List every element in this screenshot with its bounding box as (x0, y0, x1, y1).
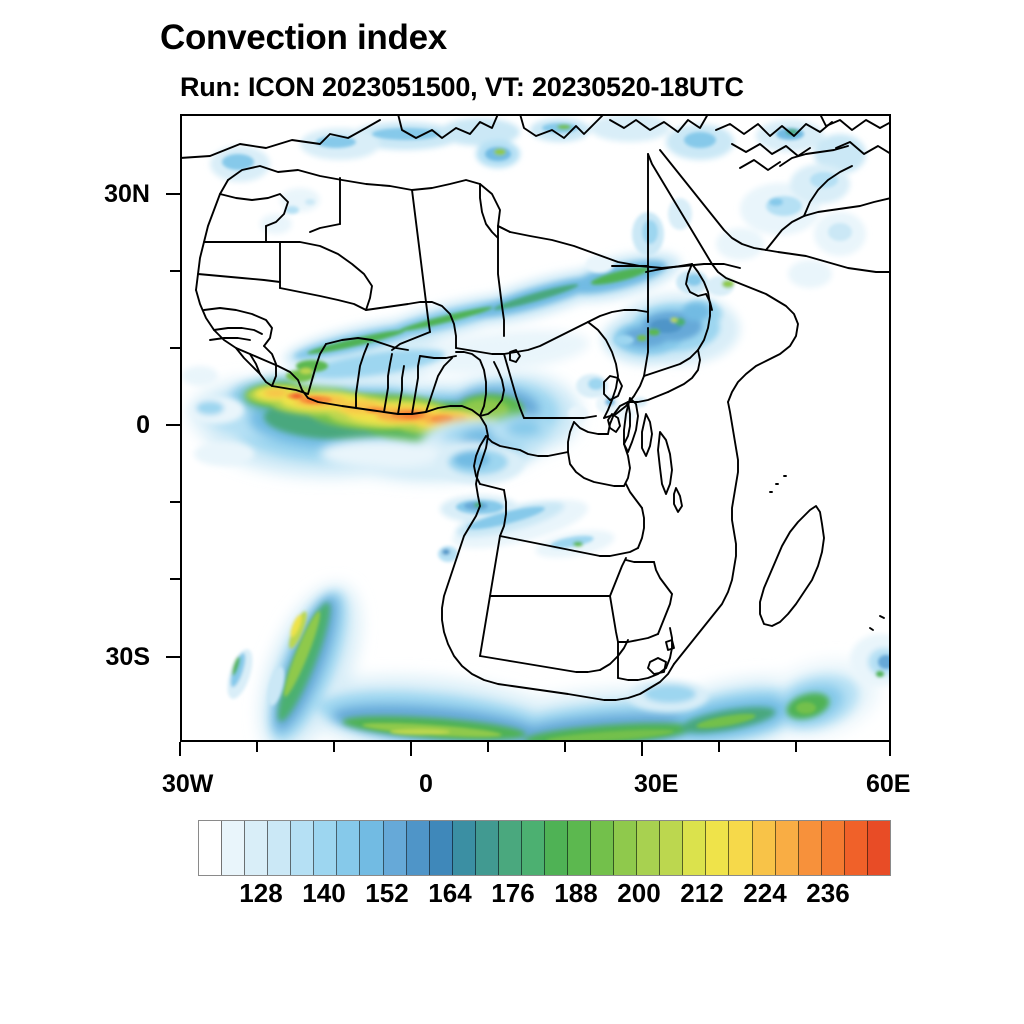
colorbar-cell-22 (706, 821, 729, 875)
colorbar-label-236: 236 (806, 878, 849, 909)
x-tick-label-0: 0 (419, 770, 433, 799)
colorbar-cell-15 (545, 821, 568, 875)
convection-field (182, 114, 891, 742)
colorbar-cell-3 (268, 821, 291, 875)
feature-congo-basin (436, 444, 616, 563)
colorbar-label-128: 128 (239, 878, 282, 909)
colorbar-label-152: 152 (365, 878, 408, 909)
colorbar-cell-4 (291, 821, 314, 875)
colorbar-cell-13 (499, 821, 522, 875)
colorbar-cell-23 (729, 821, 752, 875)
colorbar-cell-14 (522, 821, 545, 875)
colorbar-cell-17 (591, 821, 614, 875)
colorbar-label-140: 140 (302, 878, 345, 909)
x-tick-label-60E: 60E (866, 770, 910, 799)
colorbar-cell-9 (407, 821, 430, 875)
convection-map (180, 114, 891, 742)
run-valid-time-subtitle: Run: ICON 2023051500, VT: 20230520-18UTC (180, 72, 744, 103)
colorbar-cell-6 (337, 821, 360, 875)
colorbar-cell-11 (453, 821, 476, 875)
y-tick-label-30S: 30S (40, 643, 150, 672)
colorbar-cell-24 (753, 821, 776, 875)
page-title: Convection index (160, 18, 447, 58)
colorbar-cell-7 (360, 821, 383, 875)
colorbar-label-200: 200 (617, 878, 660, 909)
colorbar-cell-26 (799, 821, 822, 875)
y-tick-label-30N: 30N (40, 180, 150, 209)
colorbar-cell-20 (660, 821, 683, 875)
x-tick-label-30E: 30E (634, 770, 678, 799)
convection-index-figure: Convection index Run: ICON 2023051500, V… (0, 0, 1024, 1024)
colorbar-cell-29 (868, 821, 890, 875)
colorbar-cells (198, 820, 891, 876)
colorbar-label-224: 224 (743, 878, 786, 909)
colorbar-cell-10 (430, 821, 453, 875)
colorbar-cell-28 (845, 821, 868, 875)
y-tick-label-0: 0 (40, 411, 150, 440)
colorbar-cell-12 (476, 821, 499, 875)
colorbar-label-188: 188 (554, 878, 597, 909)
feature-arabian-peninsula (716, 164, 866, 288)
colorbar-label-212: 212 (680, 878, 723, 909)
colorbar-tick-labels: 128140152164176188200212224236 (198, 878, 891, 918)
colorbar: 128140152164176188200212224236 (198, 820, 891, 876)
colorbar-cell-19 (637, 821, 660, 875)
colorbar-cell-18 (614, 821, 637, 875)
x-tick-label-30W: 30W (162, 770, 213, 799)
colorbar-cell-21 (683, 821, 706, 875)
colorbar-label-164: 164 (428, 878, 471, 909)
colorbar-label-176: 176 (491, 878, 534, 909)
colorbar-cell-8 (384, 821, 407, 875)
colorbar-cell-27 (822, 821, 845, 875)
colorbar-cell-1 (222, 821, 245, 875)
colorbar-cell-16 (568, 821, 591, 875)
colorbar-cell-5 (314, 821, 337, 875)
colorbar-cell-0 (199, 821, 222, 875)
map-panel (180, 114, 891, 742)
colorbar-cell-25 (776, 821, 799, 875)
colorbar-cell-2 (245, 821, 268, 875)
